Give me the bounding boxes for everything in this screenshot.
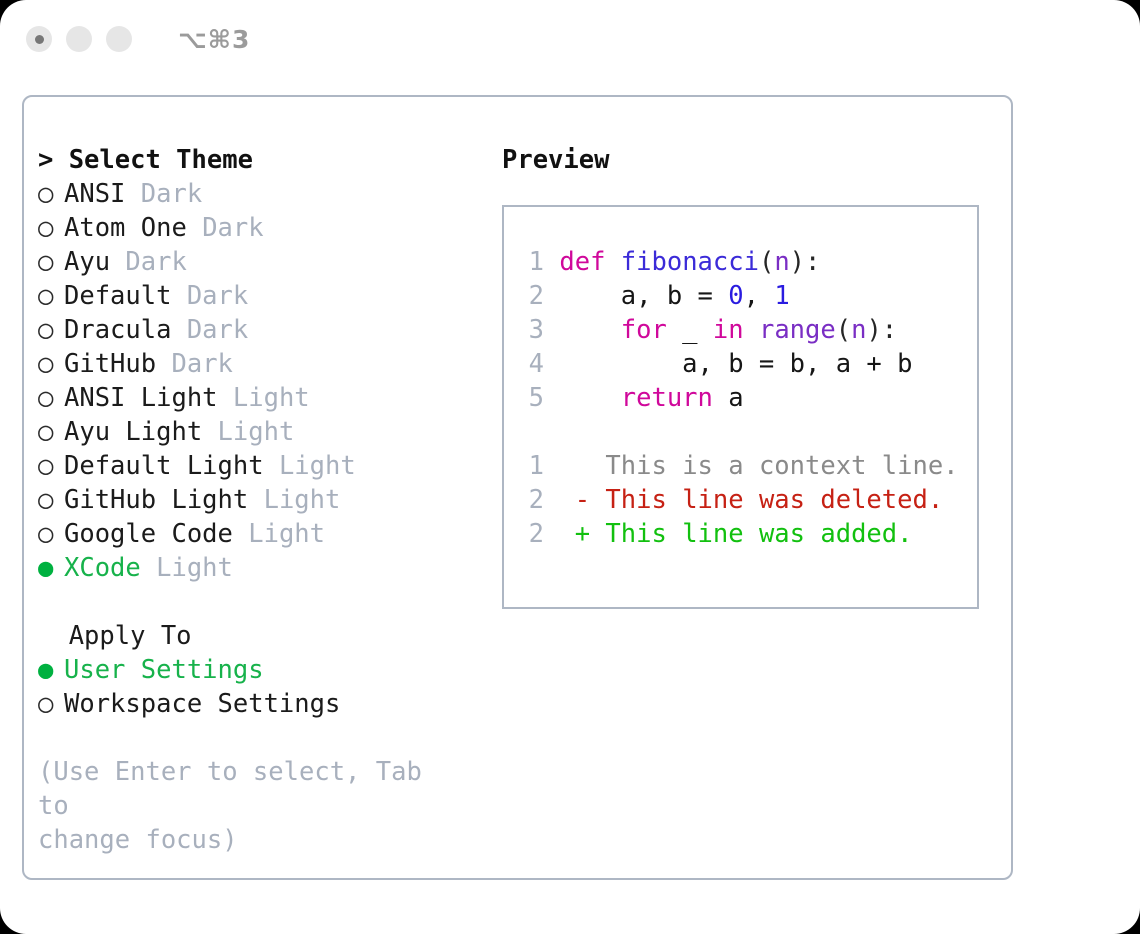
preview-column: Preview 1 def fibonacci(n):2 a, b = 0, 1…	[502, 143, 1002, 609]
preview-box: 1 def fibonacci(n):2 a, b = 0, 13 for _ …	[502, 205, 979, 609]
code-diff-spacer	[518, 415, 977, 449]
code-token: 1	[774, 281, 789, 311]
spacer	[544, 519, 575, 549]
code-line: 3 for _ in range(n):	[518, 313, 977, 347]
theme-name: GitHub	[64, 349, 156, 379]
radio-unselected-icon: ○	[38, 177, 64, 211]
radio-selected-icon: ●	[38, 653, 64, 687]
code-token: a, b = b, a + b	[544, 349, 912, 379]
code-token: _	[667, 315, 713, 345]
code-token: a, b =	[544, 281, 728, 311]
theme-picker-panel: > Select Theme ○ANSI Dark○Atom One Dark○…	[22, 95, 1013, 880]
line-number: 4	[518, 347, 544, 381]
app-window: ⌥⌘3 > Select Theme ○ANSI Dark○Atom One D…	[0, 0, 1140, 934]
radio-unselected-icon: ○	[38, 245, 64, 279]
theme-list-item[interactable]: ○ANSI Dark	[38, 177, 478, 211]
theme-list-column: > Select Theme ○ANSI Dark○Atom One Dark○…	[38, 143, 478, 857]
traffic-light-close-icon[interactable]	[26, 26, 52, 52]
code-token: fibonacci	[621, 247, 759, 277]
code-token: a	[713, 383, 744, 413]
radio-unselected-icon: ○	[38, 449, 64, 483]
code-token: ,	[744, 281, 775, 311]
spacer	[187, 213, 202, 243]
spacer	[110, 247, 125, 277]
diff-text: This is a context line.	[590, 451, 958, 481]
keyboard-shortcut-label: ⌥⌘3	[178, 25, 250, 54]
theme-category-label: Dark	[187, 315, 248, 345]
apply-to-item[interactable]: ○Workspace Settings	[38, 687, 478, 721]
spacer	[218, 383, 233, 413]
diff-text: This line was deleted.	[590, 485, 943, 515]
traffic-light-active-indicator	[35, 35, 44, 44]
code-token: range	[759, 315, 836, 345]
theme-list-item[interactable]: ●XCode Light	[38, 551, 478, 585]
diff-text: This line was added.	[590, 519, 912, 549]
diff-sign: -	[575, 485, 590, 515]
code-token: ):	[790, 247, 821, 277]
theme-category-label: Light	[233, 383, 310, 413]
theme-category-label: Dark	[141, 179, 202, 209]
radio-unselected-icon: ○	[38, 415, 64, 449]
theme-list-item[interactable]: ○Ayu Light Light	[38, 415, 478, 449]
select-theme-heading: > Select Theme	[38, 143, 478, 177]
spacer	[233, 519, 248, 549]
theme-category-label: Light	[156, 553, 233, 583]
radio-unselected-icon: ○	[38, 381, 64, 415]
code-token	[544, 247, 559, 277]
theme-name: Default	[64, 281, 171, 311]
radio-selected-icon: ●	[38, 551, 64, 585]
diff-line: 2 - This line was deleted.	[518, 483, 977, 517]
diff-line-number: 2	[518, 483, 544, 517]
spacer	[171, 281, 186, 311]
apply-to-list[interactable]: ●User Settings○Workspace Settings	[38, 653, 478, 721]
theme-name: Default Light	[64, 451, 264, 481]
code-line: 2 a, b = 0, 1	[518, 279, 977, 313]
code-sample: 1 def fibonacci(n):2 a, b = 0, 13 for _ …	[518, 245, 977, 415]
theme-list-item[interactable]: ○Atom One Dark	[38, 211, 478, 245]
radio-unselected-icon: ○	[38, 347, 64, 381]
apply-to-label: User Settings	[64, 655, 264, 685]
code-token: ):	[866, 315, 897, 345]
theme-list-item[interactable]: ○Default Dark	[38, 279, 478, 313]
theme-category-label: Light	[264, 485, 341, 515]
code-token	[544, 315, 621, 345]
code-token: in	[713, 315, 744, 345]
theme-name: GitHub Light	[64, 485, 248, 515]
code-token: 0	[728, 281, 743, 311]
theme-category-label: Light	[248, 519, 325, 549]
code-line: 5 return a	[518, 381, 977, 415]
theme-list-item[interactable]: ○ANSI Light Light	[38, 381, 478, 415]
radio-unselected-icon: ○	[38, 517, 64, 551]
spacer	[544, 485, 575, 515]
traffic-light-maximize-icon[interactable]	[106, 26, 132, 52]
theme-name: Google Code	[64, 519, 233, 549]
theme-list-item[interactable]: ○GitHub Light Light	[38, 483, 478, 517]
diff-line: 1 This is a context line.	[518, 449, 977, 483]
theme-list-item[interactable]: ○Ayu Dark	[38, 245, 478, 279]
traffic-light-minimize-icon[interactable]	[66, 26, 92, 52]
theme-list-item[interactable]: ○GitHub Dark	[38, 347, 478, 381]
code-token: n	[774, 247, 789, 277]
diff-sign: +	[575, 519, 590, 549]
spacer	[171, 315, 186, 345]
preview-heading: Preview	[502, 143, 1002, 177]
apply-to-heading: Apply To	[38, 619, 478, 653]
theme-name: ANSI Light	[64, 383, 218, 413]
diff-sign	[575, 451, 590, 481]
line-number: 2	[518, 279, 544, 313]
apply-to-item[interactable]: ●User Settings	[38, 653, 478, 687]
spacer	[141, 553, 156, 583]
spacer	[202, 417, 217, 447]
spacer	[156, 349, 171, 379]
theme-category-label: Dark	[171, 349, 232, 379]
code-token	[544, 383, 621, 413]
theme-list-item[interactable]: ○Default Light Light	[38, 449, 478, 483]
diff-line-number: 1	[518, 449, 544, 483]
theme-name: Atom One	[64, 213, 187, 243]
theme-category-label: Dark	[125, 247, 186, 277]
code-token: n	[851, 315, 866, 345]
radio-unselected-icon: ○	[38, 687, 64, 721]
code-token: return	[621, 383, 713, 413]
theme-name: ANSI	[64, 179, 125, 209]
spacer	[248, 485, 263, 515]
apply-to-label: Workspace Settings	[64, 689, 340, 719]
line-number: 3	[518, 313, 544, 347]
code-line: 4 a, b = b, a + b	[518, 347, 977, 381]
code-token: for	[621, 315, 667, 345]
radio-unselected-icon: ○	[38, 279, 64, 313]
code-token	[744, 315, 759, 345]
code-token: (	[759, 247, 774, 277]
theme-category-label: Dark	[202, 213, 263, 243]
radio-unselected-icon: ○	[38, 483, 64, 517]
spacer	[264, 451, 279, 481]
diff-sample: 1 This is a context line.2 - This line w…	[518, 449, 977, 551]
theme-name: Ayu Light	[64, 417, 202, 447]
theme-category-label: Dark	[187, 281, 248, 311]
radio-unselected-icon: ○	[38, 211, 64, 245]
diff-line: 2 + This line was added.	[518, 517, 977, 551]
line-number: 5	[518, 381, 544, 415]
theme-name: Dracula	[64, 315, 171, 345]
list-spacer	[38, 585, 478, 619]
code-token: (	[836, 315, 851, 345]
theme-list-item[interactable]: ○Dracula Dark	[38, 313, 478, 347]
theme-name: XCode	[64, 553, 141, 583]
keyboard-hint-text: (Use Enter to select, Tab to change focu…	[38, 755, 448, 857]
theme-category-label: Light	[279, 451, 356, 481]
code-token	[605, 247, 620, 277]
title-bar: ⌥⌘3	[0, 0, 1140, 78]
theme-list-item[interactable]: ○Google Code Light	[38, 517, 478, 551]
diff-line-number: 2	[518, 517, 544, 551]
code-token: def	[559, 247, 605, 277]
code-line: 1 def fibonacci(n):	[518, 245, 977, 279]
spacer	[544, 451, 575, 481]
theme-name: Ayu	[64, 247, 110, 277]
radio-unselected-icon: ○	[38, 313, 64, 347]
line-number: 1	[518, 245, 544, 279]
spacer	[125, 179, 140, 209]
theme-list[interactable]: ○ANSI Dark○Atom One Dark○Ayu Dark○Defaul…	[38, 177, 478, 585]
theme-category-label: Light	[218, 417, 295, 447]
